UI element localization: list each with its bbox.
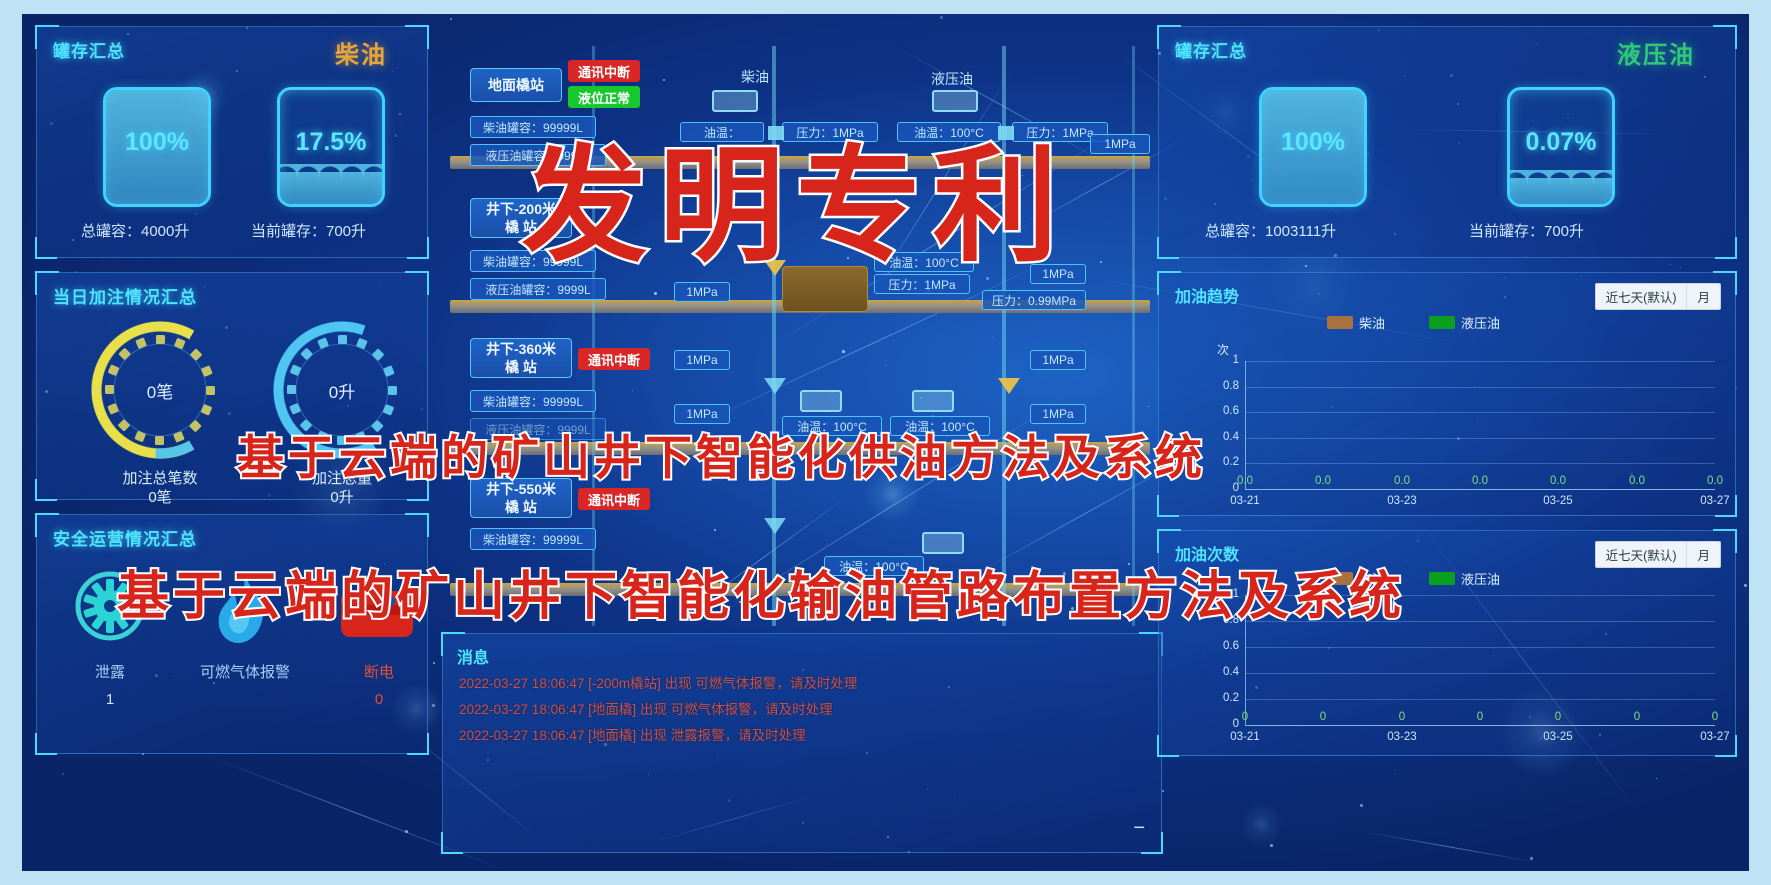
range-toggle-count[interactable]: 近七天(默认) 月: [1595, 541, 1721, 568]
legend-item-diesel[interactable]: 柴油: [1327, 313, 1385, 332]
chart-gridline: [1245, 361, 1715, 362]
chart-x-tick: 03-21: [1223, 731, 1267, 743]
chart-point-label: 0.0: [1540, 475, 1576, 487]
chart-y-axis: [1245, 361, 1246, 489]
product-label-hydraulic: 液压油: [1617, 35, 1695, 70]
chart-gridline: [1245, 463, 1715, 464]
refuel-trend-plot: 10.80.60.40.200.003-210.00.003-230.00.00…: [1245, 361, 1715, 489]
chart-x-tick: 03-21: [1223, 495, 1267, 507]
status-badge-comm: 通讯中断: [568, 60, 640, 82]
chart-x-tick: 03-25: [1536, 731, 1580, 743]
message-row: 2022-03-27 18:06:47 [地面橇] 出现 可燃气体报警，请及时处…: [459, 698, 833, 718]
chart-point-label: 0.0: [1384, 475, 1420, 487]
chart-gridline: [1245, 673, 1715, 674]
panel-title: 安全运营情况汇总: [53, 525, 197, 550]
left-current-stock-tank: 17.5%: [277, 87, 385, 207]
chart-x-axis: [1245, 489, 1715, 490]
range-option-month[interactable]: 月: [1687, 542, 1720, 567]
right-tank-summary-panel: 罐存汇总 液压油 100% 总罐容：1003111升 0.07% 当前罐存：70…: [1158, 26, 1736, 258]
chart-gridline: [1245, 699, 1715, 700]
station-name-ground[interactable]: 地面橇站: [470, 68, 562, 102]
watermark-main: 发明专利: [522, 104, 1070, 285]
chart-point-label: 0.0: [1697, 475, 1733, 487]
message-row: 2022-03-27 18:06:47 [-200m橇站] 出现 可燃气体报警，…: [459, 672, 857, 692]
chart-gridline: [1245, 647, 1715, 648]
left-tank-summary-panel: 罐存汇总 柴油 100% 总罐容：4000升 17.5% 当前罐存：700升: [36, 26, 428, 258]
safety-summary-panel: 安全运营情况汇总 泄露 1 可燃气体报警: [36, 514, 428, 754]
label-line2: 0升: [277, 488, 407, 507]
label-line1: 加注总笔数: [95, 469, 225, 488]
dashboard-screen: 罐存汇总 柴油 100% 总罐容：4000升 17.5% 当前罐存：700升 当…: [22, 14, 1749, 871]
chart-point-label: 0: [1384, 711, 1420, 723]
right-total-capacity-caption: 总罐容：1003111升: [1205, 220, 1336, 241]
station-name-360[interactable]: 井下-360米 橇 站: [470, 338, 572, 378]
gas-alarm-label: 可燃气体报警: [185, 661, 305, 682]
panel-title: 罐存汇总: [1175, 37, 1247, 62]
refuel-count-dial: 0笔: [85, 315, 235, 465]
chart-title: 加油趋势: [1175, 283, 1239, 307]
chart-y-tick: 1: [1205, 354, 1239, 366]
chart-point-label: 0: [1462, 711, 1498, 723]
message-row: 2022-03-27 18:06:47 [地面橇] 出现 泄露报警，请及时处理: [459, 724, 806, 744]
label-line2: 0笔: [95, 488, 225, 507]
chart-gridline: [1245, 387, 1715, 388]
chart-point-label: 0: [1227, 711, 1263, 723]
range-toggle-trend[interactable]: 近七天(默认) 月: [1595, 283, 1721, 310]
chart-y-tick: 0.4: [1205, 666, 1239, 678]
left-total-capacity-tank: 100%: [103, 87, 211, 207]
status-badge-comm: 通讯中断: [578, 348, 650, 370]
chart-point-label: 0.0: [1619, 475, 1655, 487]
tank-percent: 0.07%: [1510, 128, 1612, 157]
right-total-capacity-tank: 100%: [1259, 87, 1367, 207]
leak-label: 泄露: [65, 661, 155, 682]
left-current-stock-caption: 当前罐存：700升: [251, 220, 366, 241]
chart-y-tick: 0.6: [1205, 405, 1239, 417]
tank-percent: 17.5%: [280, 128, 382, 157]
chart-point-label: 0: [1697, 711, 1733, 723]
range-option-week[interactable]: 近七天(默认): [1596, 542, 1688, 567]
right-current-stock-caption: 当前罐存：700升: [1469, 220, 1584, 241]
station-name-text: 井下-360米 橇 站: [486, 340, 556, 376]
range-option-week[interactable]: 近七天(默认): [1596, 284, 1688, 309]
refuel-count-label: 加注总笔数 0笔: [95, 469, 225, 507]
legend-label: 液压油: [1461, 313, 1500, 332]
chart-point-label: 0.0: [1227, 475, 1263, 487]
chart-y-tick: 0.6: [1205, 640, 1239, 652]
chart-y-tick: 0.2: [1205, 456, 1239, 468]
legend-item-hydraulic[interactable]: 液压油: [1429, 313, 1500, 332]
range-option-month[interactable]: 月: [1687, 284, 1720, 309]
station-tag-diesel: 柴油罐容：99999L: [470, 390, 596, 412]
refuel-trend-panel: 加油趋势 近七天(默认) 月 柴油 液压油 次 10.80.60.40.200.…: [1158, 272, 1736, 516]
status-badge-comm: 通讯中断: [578, 488, 650, 510]
chart-point-label: 0: [1305, 711, 1341, 723]
chart-x-tick: 03-27: [1693, 731, 1737, 743]
watermark-line-1: 基于云端的矿山井下智能化供油方法及系统: [237, 419, 1206, 488]
chart-x-tick: 03-23: [1380, 495, 1424, 507]
chart-point-label: 0.0: [1305, 475, 1341, 487]
chart-point-label: 0: [1540, 711, 1576, 723]
chart-y-tick: 0.8: [1205, 380, 1239, 392]
legend-label: 柴油: [1359, 313, 1385, 332]
message-panel: 消息 2022-03-27 18:06:47 [-200m橇站] 出现 可燃气体…: [442, 633, 1162, 853]
chart-gridline: [1245, 438, 1715, 439]
station-tag-diesel: 柴油罐容：99999L: [470, 528, 596, 550]
panel-title: 罐存汇总: [53, 37, 125, 62]
dial-value: 0笔: [85, 315, 235, 465]
minimize-icon[interactable]: −: [1133, 817, 1145, 840]
power-value: 0: [329, 691, 429, 708]
panel-title: 当日加注情况汇总: [53, 283, 197, 308]
left-total-capacity-caption: 总罐容：4000升: [81, 220, 189, 241]
message-panel-title: 消息: [457, 644, 489, 668]
chart-x-tick: 03-23: [1380, 731, 1424, 743]
chart-x-axis: [1245, 725, 1715, 726]
outer-frame: 罐存汇总 柴油 100% 总罐容：4000升 17.5% 当前罐存：700升 当…: [0, 0, 1771, 885]
chart-y-tick: 0.4: [1205, 431, 1239, 443]
chart-x-tick: 03-25: [1536, 495, 1580, 507]
chart-point-label: 0: [1619, 711, 1655, 723]
legend-item-hydraulic[interactable]: 液压油: [1429, 569, 1500, 588]
legend-label: 液压油: [1461, 569, 1500, 588]
chart-x-tick: 03-27: [1693, 495, 1737, 507]
tank-percent: 100%: [106, 128, 208, 157]
chart-point-label: 0.0: [1462, 475, 1498, 487]
product-label-diesel: 柴油: [335, 35, 387, 70]
right-current-stock-tank: 0.07%: [1507, 87, 1615, 207]
tank-percent: 100%: [1262, 128, 1364, 157]
power-label: 断电: [329, 661, 429, 682]
watermark-line-2: 基于云端的矿山井下智能化输油管路布置方法及系统: [117, 554, 1405, 629]
chart-gridline: [1245, 412, 1715, 413]
chart-y-tick: 0.2: [1205, 692, 1239, 704]
leak-value: 1: [65, 691, 155, 708]
